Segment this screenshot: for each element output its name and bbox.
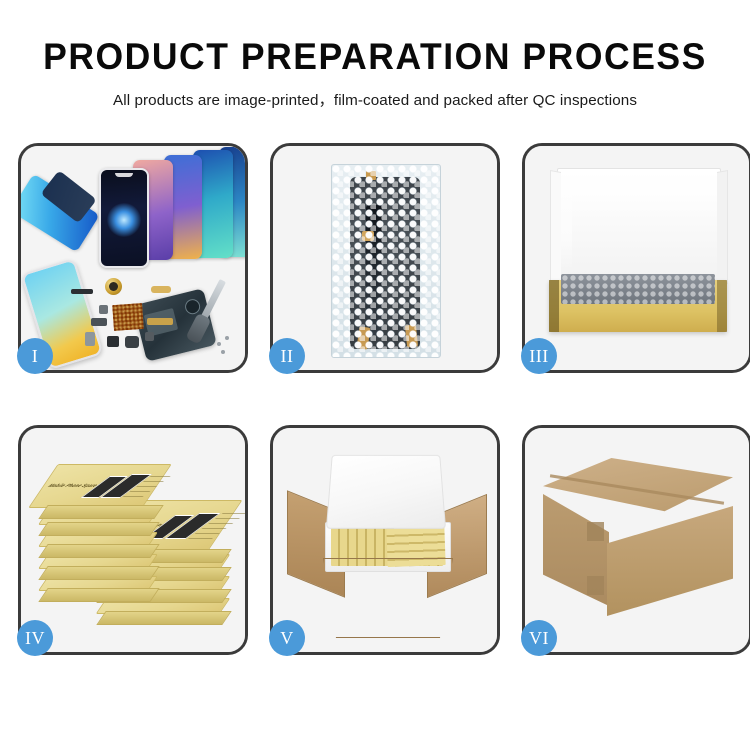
step-6-image xyxy=(525,428,749,652)
product-preparation-infographic: PRODUCT PREPARATION PROCESS All products… xyxy=(0,0,750,750)
carton-body xyxy=(323,558,453,638)
spare-part xyxy=(125,336,139,348)
process-step-5: V xyxy=(270,425,500,655)
open-shipping-carton xyxy=(289,450,485,636)
wallpaper-burst-icon xyxy=(107,203,141,237)
screw-icon xyxy=(217,342,221,346)
step-5-image xyxy=(273,428,497,652)
retail-box-top-left: Mobile Phone Spare Parts xyxy=(43,464,157,508)
speaker-coil-icon xyxy=(105,278,122,295)
phone-parts-scene xyxy=(21,146,245,370)
flex-cable-part xyxy=(147,318,173,325)
sealed-shipping-carton xyxy=(543,458,733,626)
page-subtitle: All products are image-printed，film-coat… xyxy=(0,88,750,110)
spare-part xyxy=(85,332,95,346)
spare-part xyxy=(91,318,107,326)
header: PRODUCT PREPARATION PROCESS All products… xyxy=(0,0,750,110)
open-inner-box xyxy=(549,168,727,346)
bubble-wrap-bag xyxy=(331,164,441,358)
foam-lid xyxy=(557,168,721,288)
spare-part xyxy=(145,332,154,341)
page-title: PRODUCT PREPARATION PROCESS xyxy=(15,38,735,75)
process-step-grid: I II xyxy=(18,143,732,685)
screw-icon xyxy=(225,336,229,340)
phone-notch-icon xyxy=(115,173,133,177)
step-badge-6: VI xyxy=(521,620,557,656)
process-step-4: Mobile Phone Spare Parts xyxy=(18,425,248,655)
flex-cable-part xyxy=(151,286,171,293)
copper-chip-grid-icon xyxy=(112,303,144,331)
carton-tape-icon xyxy=(587,576,604,595)
blue-phone-case-icon xyxy=(21,174,100,253)
phone-screen-1 xyxy=(99,168,149,268)
step-4-image: Mobile Phone Spare Parts xyxy=(21,428,245,652)
carton-tape-icon xyxy=(587,522,604,541)
foam-lid-open xyxy=(326,455,446,529)
process-step-1: I xyxy=(18,143,248,373)
spare-part xyxy=(71,289,93,294)
step-badge-3: III xyxy=(521,338,557,374)
screw-icon xyxy=(221,350,225,354)
step-1-image xyxy=(21,146,245,370)
spare-part xyxy=(107,336,119,347)
spare-part xyxy=(99,305,108,314)
process-step-3: III xyxy=(522,143,750,373)
step-badge-5: V xyxy=(269,620,305,656)
carton-right-face xyxy=(607,506,733,616)
step-2-image xyxy=(273,146,497,370)
foam-sheet xyxy=(572,191,722,275)
process-step-2: II xyxy=(270,143,500,373)
step-badge-2: II xyxy=(269,338,305,374)
bubble-texture-highlight xyxy=(332,165,440,357)
step-badge-1: I xyxy=(17,338,53,374)
step-3-image xyxy=(525,146,749,370)
step-badge-4: IV xyxy=(17,620,53,656)
stacked-retail-boxes: Mobile Phone Spare Parts xyxy=(35,448,235,638)
process-step-6: VI xyxy=(522,425,750,655)
bubble-wrap-contents xyxy=(561,274,715,304)
